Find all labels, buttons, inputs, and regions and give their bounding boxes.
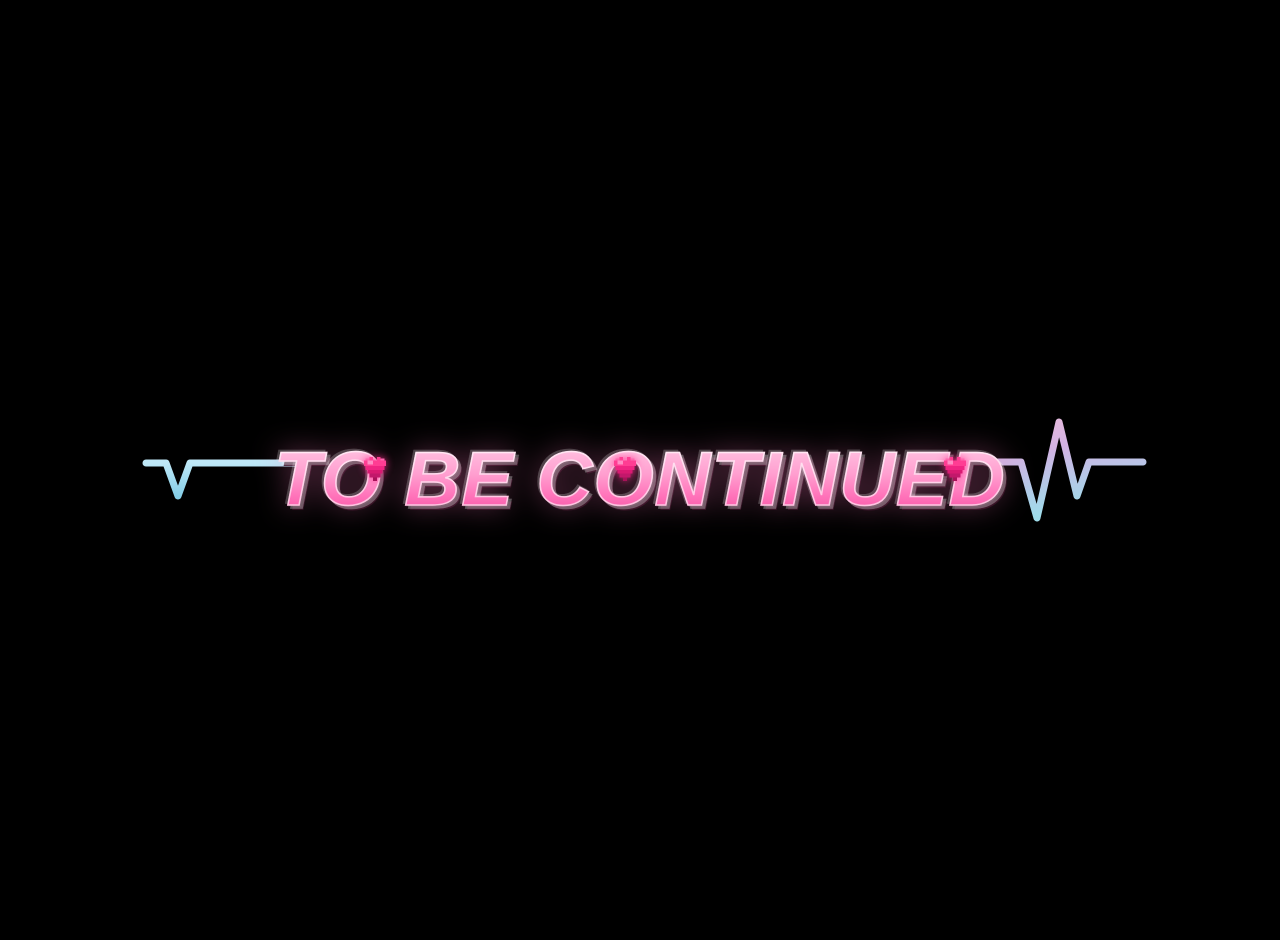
screen: TO BE CONTINUED TO BE CONTINUED bbox=[0, 0, 1280, 940]
title-block: TO BE CONTINUED TO BE CONTINUED bbox=[0, 400, 1280, 560]
to-be-continued-banner: TO BE CONTINUED TO BE CONTINUED bbox=[0, 400, 1280, 560]
page-title: TO BE CONTINUED bbox=[274, 442, 1006, 518]
